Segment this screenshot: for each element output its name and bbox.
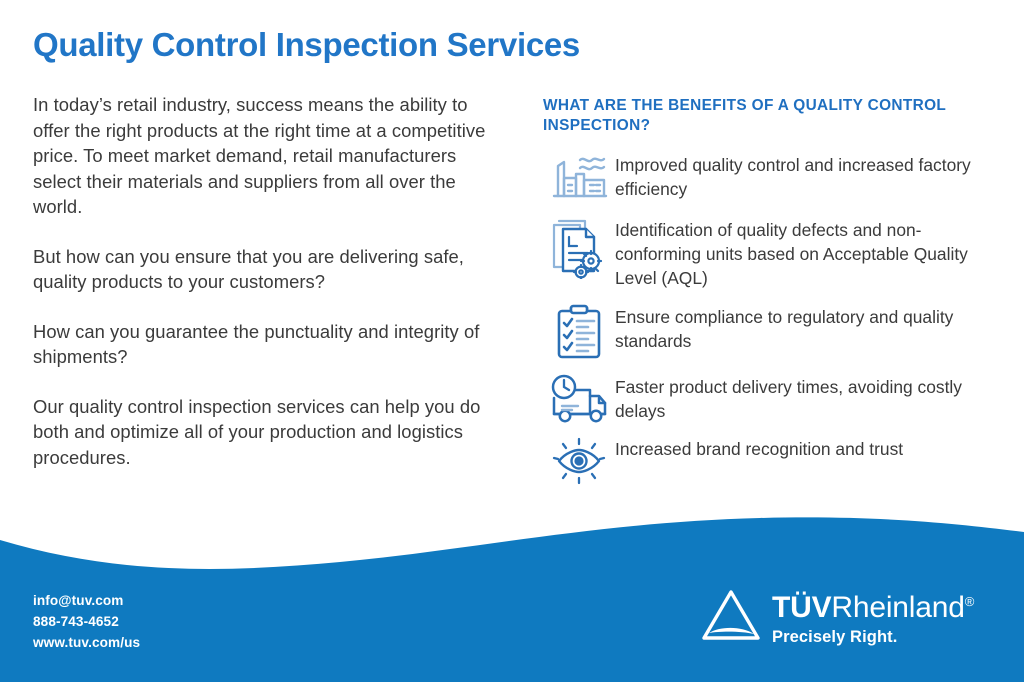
intro-paragraph-2: But how can you ensure that you are deli… [33, 244, 505, 295]
benefits-column: WHAT ARE THE BENEFITS OF A QUALITY CONTR… [543, 96, 1003, 494]
logo-wordmark-rheinland: Rheinland [831, 591, 964, 624]
benefit-item: Ensure compliance to regulatory and qual… [543, 302, 1003, 360]
quality-control-inspection-flyer: Quality Control Inspection Services In t… [0, 0, 1024, 682]
logo-text-block: TÜVRheinland® Precisely Right. [762, 586, 974, 647]
eye-icon [543, 434, 615, 486]
clipboard-checklist-icon [543, 302, 615, 360]
contact-email[interactable]: info@tuv.com [33, 590, 140, 611]
factory-icon [543, 150, 615, 200]
tuv-rheinland-logo: TÜVRheinland® Precisely Right. [700, 586, 974, 649]
logo-wordmark-tuv: TÜV [772, 591, 831, 624]
delivery-truck-clock-icon [543, 372, 615, 426]
benefit-text: Faster product delivery times, avoiding … [615, 372, 1003, 423]
benefit-text: Ensure compliance to regulatory and qual… [615, 302, 1003, 353]
benefit-item: Identification of quality defects and no… [543, 215, 1003, 290]
registered-trademark-symbol: ® [965, 594, 974, 609]
benefit-text: Increased brand recognition and trust [615, 434, 903, 461]
benefits-heading: WHAT ARE THE BENEFITS OF A QUALITY CONTR… [543, 96, 973, 136]
logo-wordmark: TÜVRheinland® [772, 586, 974, 624]
benefit-item: Faster product delivery times, avoiding … [543, 372, 1003, 426]
contact-website[interactable]: www.tuv.com/us [33, 632, 140, 653]
footer-contact-info: info@tuv.com 888-743-4652 www.tuv.com/us [33, 590, 140, 653]
intro-text-column: In today’s retail industry, success mean… [33, 92, 505, 470]
benefit-text: Improved quality control and increased f… [615, 150, 1003, 201]
intro-paragraph-1: In today’s retail industry, success mean… [33, 92, 505, 220]
benefit-text: Identification of quality defects and no… [615, 215, 1003, 290]
tuv-rheinland-triangle-icon [700, 586, 762, 649]
benefit-item: Improved quality control and increased f… [543, 150, 1003, 201]
benefit-item: Increased brand recognition and trust [543, 434, 1003, 486]
intro-paragraph-3: How can you guarantee the punctuality an… [33, 319, 505, 370]
page-title: Quality Control Inspection Services [33, 26, 580, 64]
intro-paragraph-4: Our quality control inspection services … [33, 394, 505, 471]
documents-gear-icon [543, 215, 615, 279]
contact-phone[interactable]: 888-743-4652 [33, 611, 140, 632]
logo-tagline: Precisely Right. [772, 628, 974, 647]
